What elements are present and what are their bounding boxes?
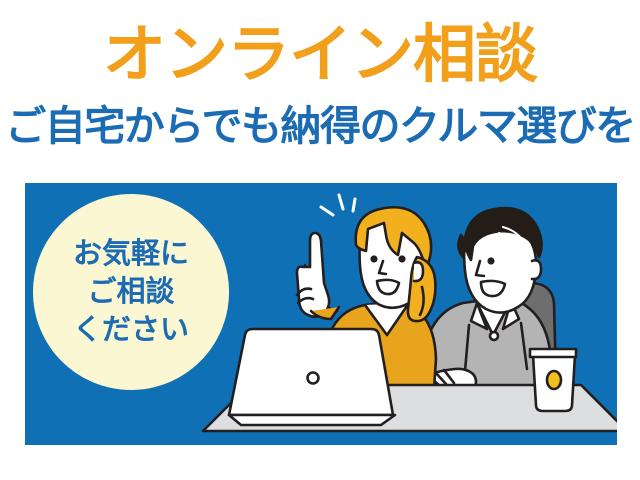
badge-line-3: ください: [73, 311, 189, 349]
badge-line-2: ご相談: [87, 273, 174, 311]
illustration-panel: お気軽に ご相談 ください: [25, 183, 617, 445]
page-title: オンライン相談: [0, 22, 640, 88]
badge-line-1: お気軽に: [73, 235, 189, 273]
consultation-badge: お気軽に ご相談 ください: [33, 194, 229, 390]
page-subtitle: ご自宅からでも納得のクルマ選びを: [0, 104, 640, 149]
online-consultation-banner: オンライン相談 ご自宅からでも納得のクルマ選びを: [0, 0, 640, 480]
